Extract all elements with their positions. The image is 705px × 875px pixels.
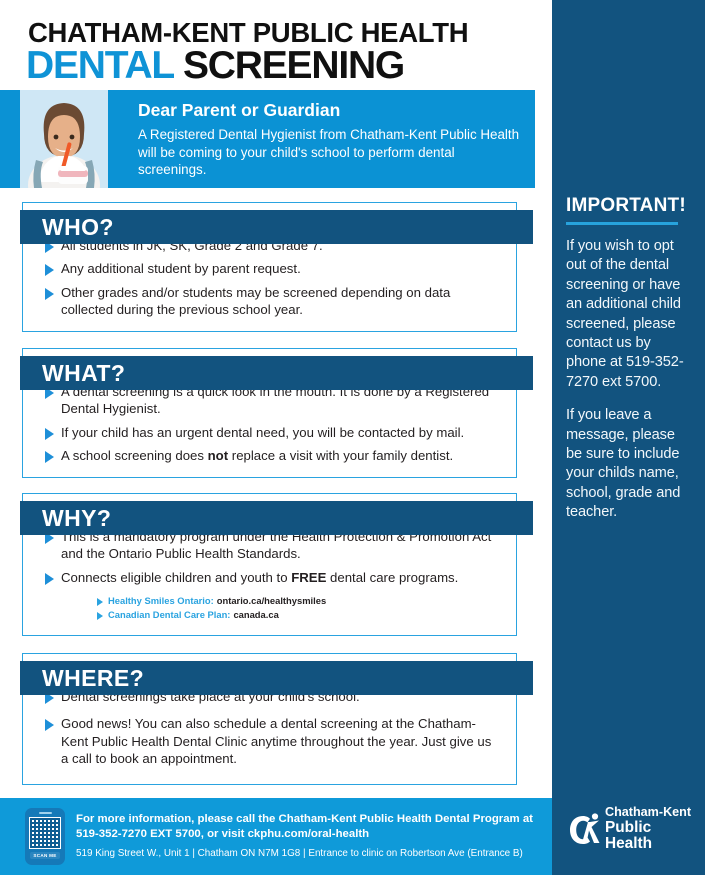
- list-item: Canadian Dental Care Plan:canada.ca: [97, 609, 502, 620]
- list-item: Any additional student by parent request…: [37, 260, 502, 277]
- section-why: This is a mandatory program under the He…: [22, 493, 517, 636]
- list-item-text: Other grades and/or students may be scre…: [61, 284, 502, 319]
- bullet-triangle-icon: [45, 264, 54, 276]
- page-title-rest: SCREENING: [173, 44, 404, 87]
- list-item: A school screening does not replace a vi…: [37, 447, 502, 464]
- section-where-bullets: Dental screenings take place at your chi…: [37, 688, 502, 768]
- section-header-what: WHAT?: [20, 356, 533, 390]
- section-header-why: WHY?: [20, 501, 533, 535]
- child-photo: [20, 90, 108, 188]
- section-title: WHERE?: [20, 665, 144, 692]
- important-title: IMPORTANT!: [566, 195, 693, 222]
- important-underline: [566, 222, 678, 225]
- bullet-triangle-icon: [45, 719, 54, 731]
- page-title-accent: DENTAL: [26, 44, 173, 87]
- section-title: WHO?: [20, 214, 114, 241]
- important-paragraph-2: If you leave a message, please be sure t…: [566, 406, 693, 522]
- bullet-triangle-icon: [45, 288, 54, 300]
- page-header: CHATHAM-KENT PUBLIC HEALTH DENTAL SCREEN…: [0, 0, 552, 88]
- section-why-bullets: This is a mandatory program under the He…: [37, 528, 502, 620]
- scan-me-label: SCAN ME: [30, 852, 59, 859]
- list-item: If your child has an urgent dental need,…: [37, 424, 502, 441]
- footer-address-text: 519 King Street W., Unit 1 | Chatham ON …: [76, 848, 546, 861]
- list-item: Good news! You can also schedule a denta…: [37, 715, 502, 767]
- ckph-logo: Chatham-Kent Public Health: [568, 806, 700, 852]
- sub-link-label: Canadian Dental Care Plan:: [108, 609, 230, 620]
- important-paragraph-1: If you wish to opt out of the dental scr…: [566, 237, 693, 392]
- footer-contact-text: For more information, please call the Ch…: [76, 812, 541, 843]
- section-header-where: WHERE?: [20, 661, 533, 695]
- list-item-text: If your child has an urgent dental need,…: [61, 424, 464, 441]
- bullet-triangle-icon: [97, 598, 103, 606]
- list-item-text: Connects eligible children and youth to …: [61, 569, 458, 586]
- sub-link-url[interactable]: canada.ca: [233, 609, 278, 620]
- section-where: Dental screenings take place at your chi…: [22, 653, 517, 785]
- section-header-who: WHO?: [20, 210, 533, 244]
- dear-parent-banner: Dear Parent or Guardian A Registered Den…: [0, 90, 535, 188]
- section-who: All students in JK, SK, Grade 2 and Grad…: [22, 202, 517, 332]
- sub-link-label: Healthy Smiles Ontario:: [108, 595, 214, 606]
- bullet-triangle-icon: [45, 451, 54, 463]
- qr-code-icon: [29, 817, 61, 849]
- logo-line-1: Chatham-Kent: [605, 806, 700, 819]
- list-item: Connects eligible children and youth to …: [37, 569, 502, 586]
- section-what-bullets: A dental screening is a quick look in th…: [37, 383, 502, 465]
- phone-speaker-icon: [39, 812, 52, 814]
- qr-code-phone[interactable]: SCAN ME: [25, 808, 65, 865]
- list-item: Healthy Smiles Ontario:ontario.ca/health…: [97, 595, 502, 606]
- logo-line-2: Public Health: [605, 820, 700, 852]
- important-sidebar: IMPORTANT! If you wish to opt out of the…: [552, 0, 705, 875]
- bullet-triangle-icon: [97, 612, 103, 620]
- section-what: A dental screening is a quick look in th…: [22, 348, 517, 478]
- footer-banner: SCAN ME For more information, please cal…: [0, 798, 552, 875]
- ck-mark-icon: [568, 810, 602, 848]
- list-item-text: Any additional student by parent request…: [61, 260, 301, 277]
- section-title: WHY?: [20, 505, 111, 532]
- page-title: DENTAL SCREENING: [26, 44, 404, 88]
- sub-link-url[interactable]: ontario.ca/healthysmiles: [217, 595, 326, 606]
- bullet-triangle-icon: [45, 573, 54, 585]
- list-item-text: Good news! You can also schedule a denta…: [61, 715, 502, 767]
- section-title: WHAT?: [20, 360, 125, 387]
- why-sub-links: Healthy Smiles Ontario:ontario.ca/health…: [97, 595, 502, 620]
- list-item: Other grades and/or students may be scre…: [37, 284, 502, 319]
- section-who-bullets: All students in JK, SK, Grade 2 and Grad…: [37, 237, 502, 319]
- dear-parent-heading: Dear Parent or Guardian: [138, 100, 523, 121]
- dear-parent-body: A Registered Dental Hygienist from Chath…: [138, 126, 523, 179]
- bullet-triangle-icon: [45, 428, 54, 440]
- list-item-text: A school screening does not replace a vi…: [61, 447, 453, 464]
